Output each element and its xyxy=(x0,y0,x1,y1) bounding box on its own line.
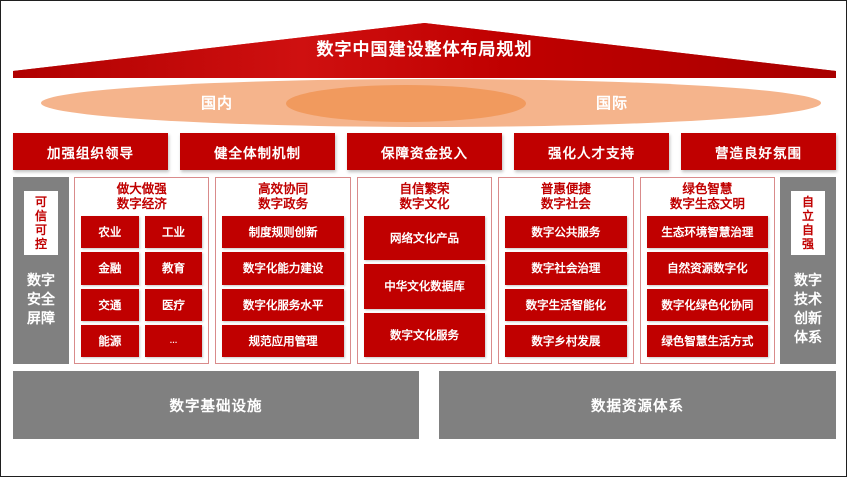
pillar-1-item-7[interactable]: 能源 xyxy=(81,325,139,357)
pillar-2-item-2[interactable]: 数字化能力建设 xyxy=(222,252,343,284)
pillar-items-2: 制度规则创新 数字化能力建设 数字化服务水平 规范应用管理 xyxy=(222,216,343,357)
pillar-digital-economy[interactable]: 做大做强 数字经济 农业 工业 金融 教育 交通 医疗 能源 … xyxy=(74,177,209,364)
pillar-5-item-4[interactable]: 绿色智慧生活方式 xyxy=(647,325,768,357)
pillar-head-2: 高效协同 数字政务 xyxy=(222,182,343,212)
pillar-3-item-1[interactable]: 网络文化产品 xyxy=(364,216,485,260)
foundation-infrastructure[interactable]: 数字基础设施 xyxy=(13,371,419,439)
left-panel-title: 数字安全屏障 xyxy=(27,271,55,328)
left-panel-chip: 可信 可控 xyxy=(24,191,58,255)
foundation-data-resources[interactable]: 数据资源体系 xyxy=(439,371,836,439)
pillar-digital-society[interactable]: 普惠便捷 数字社会 数字公共服务 数字社会治理 数字生活智能化 数字乡村发展 xyxy=(498,177,633,364)
pillar-1-item-4[interactable]: 教育 xyxy=(145,252,203,284)
measure-button-2[interactable]: 健全体制机制 xyxy=(180,133,335,170)
pillar-head-3: 自信繁荣 数字文化 xyxy=(364,182,485,212)
scope-label-domestic: 国内 xyxy=(201,92,233,113)
title-chevron: 数字中国建设整体布局规划 xyxy=(13,23,836,78)
measure-button-4[interactable]: 强化人才支持 xyxy=(514,133,669,170)
pillar-1-item-2[interactable]: 工业 xyxy=(145,216,203,248)
pillar-head-4: 普惠便捷 数字社会 xyxy=(505,182,626,212)
pillar-digital-culture[interactable]: 自信繁荣 数字文化 网络文化产品 中华文化数据库 数字文化服务 xyxy=(357,177,492,364)
foundations-row: 数字基础设施 数据资源体系 xyxy=(13,371,836,439)
pillar-5-item-1[interactable]: 生态环境智慧治理 xyxy=(647,216,768,248)
scope-label-international: 国际 xyxy=(596,92,628,113)
pillar-items-4: 数字公共服务 数字社会治理 数字生活智能化 数字乡村发展 xyxy=(505,216,626,357)
left-side-panel: 可信 可控 数字安全屏障 xyxy=(13,177,69,364)
pillar-4-item-1[interactable]: 数字公共服务 xyxy=(505,216,626,248)
pillar-4-item-2[interactable]: 数字社会治理 xyxy=(505,252,626,284)
pillar-2-item-4[interactable]: 规范应用管理 xyxy=(222,325,343,357)
pillar-digital-government[interactable]: 高效协同 数字政务 制度规则创新 数字化能力建设 数字化服务水平 规范应用管理 xyxy=(215,177,350,364)
scope-ellipse-inner xyxy=(286,85,526,122)
right-panel-chip: 自立 自强 xyxy=(791,191,825,255)
page-title: 数字中国建设整体布局规划 xyxy=(13,35,836,60)
right-panel-title: 数字技术创新体系 xyxy=(794,271,822,347)
scope-band: 国内 国际 xyxy=(41,79,821,127)
pillar-items-3: 网络文化产品 中华文化数据库 数字文化服务 xyxy=(364,216,485,357)
pillar-1-item-8[interactable]: … xyxy=(145,325,203,357)
measure-button-3[interactable]: 保障资金投入 xyxy=(347,133,502,170)
measure-button-1[interactable]: 加强组织领导 xyxy=(13,133,168,170)
pillar-1-item-6[interactable]: 医疗 xyxy=(145,289,203,321)
pillar-head-5: 绿色智慧 数字生态文明 xyxy=(647,182,768,212)
pillar-items-5: 生态环境智慧治理 自然资源数字化 数字化绿色化协同 绿色智慧生活方式 xyxy=(647,216,768,357)
pillar-2-item-3[interactable]: 数字化服务水平 xyxy=(222,289,343,321)
pillar-3-item-3[interactable]: 数字文化服务 xyxy=(364,313,485,357)
pillar-digital-ecology[interactable]: 绿色智慧 数字生态文明 生态环境智慧治理 自然资源数字化 数字化绿色化协同 绿色… xyxy=(640,177,775,364)
pillar-head-1: 做大做强 数字经济 xyxy=(81,182,202,212)
pillar-5-item-2[interactable]: 自然资源数字化 xyxy=(647,252,768,284)
pillars-group: 做大做强 数字经济 农业 工业 金融 教育 交通 医疗 能源 … 高效协同 数字… xyxy=(74,177,775,364)
pillar-1-item-3[interactable]: 金融 xyxy=(81,252,139,284)
infographic-slide: 数字中国建设整体布局规划 国内 国际 加强组织领导 健全体制机制 保障资金投入 … xyxy=(0,0,847,477)
pillar-4-item-3[interactable]: 数字生活智能化 xyxy=(505,289,626,321)
pillar-items-1: 农业 工业 金融 教育 交通 医疗 能源 … xyxy=(81,216,202,357)
measures-row: 加强组织领导 健全体制机制 保障资金投入 强化人才支持 营造良好氛围 xyxy=(13,133,836,170)
pillar-3-item-2[interactable]: 中华文化数据库 xyxy=(364,264,485,308)
pillar-2-item-1[interactable]: 制度规则创新 xyxy=(222,216,343,248)
pillar-1-item-5[interactable]: 交通 xyxy=(81,289,139,321)
pillar-1-item-1[interactable]: 农业 xyxy=(81,216,139,248)
pillars-row: 可信 可控 数字安全屏障 做大做强 数字经济 农业 工业 金融 教育 交通 医疗… xyxy=(13,177,836,364)
pillar-5-item-3[interactable]: 数字化绿色化协同 xyxy=(647,289,768,321)
measure-button-5[interactable]: 营造良好氛围 xyxy=(681,133,836,170)
right-side-panel: 自立 自强 数字技术创新体系 xyxy=(780,177,836,364)
pillar-4-item-4[interactable]: 数字乡村发展 xyxy=(505,325,626,357)
